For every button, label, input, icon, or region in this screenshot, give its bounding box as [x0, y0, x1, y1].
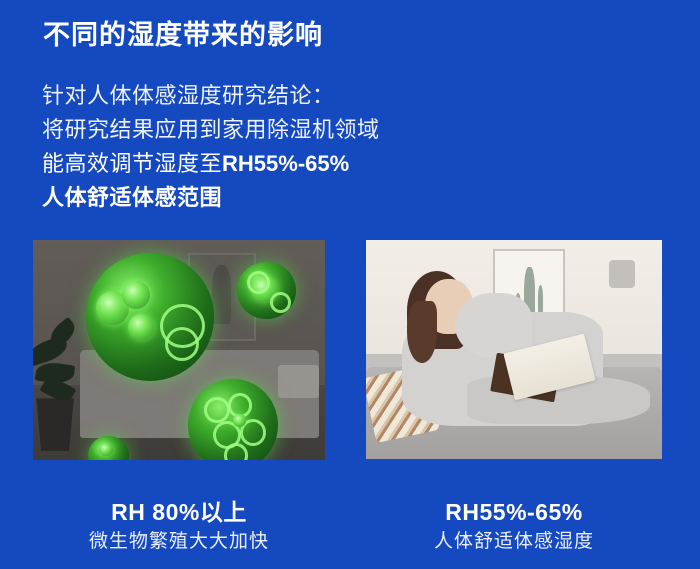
person-hair-strand	[407, 301, 437, 362]
body-line-3-prefix: 能高效调节湿度至	[42, 151, 222, 176]
humidity-comparison-poster: 不同的湿度带来的影响 针对人体体感湿度研究结论： 将研究结果应用到家用除湿机领域…	[0, 0, 700, 569]
body-line-3: 能高效调节湿度至RH55%-65%	[42, 147, 380, 181]
sofa-cushion	[278, 365, 319, 398]
photo-high-humidity-microbes	[33, 240, 325, 460]
microbe-large-icon	[86, 253, 214, 381]
caption-right-sub: 人体舒适体感湿度	[366, 529, 662, 555]
page-title: 不同的湿度带来的影响	[43, 18, 323, 52]
dim-room-scene	[33, 240, 325, 460]
body-line-4: 人体舒适体感范围	[42, 181, 380, 215]
photo-comfortable-humidity-person	[366, 240, 662, 459]
caption-left-main: RH 80%以上	[33, 498, 325, 526]
caption-right-main: RH55%-65%	[366, 498, 662, 526]
body-copy: 针对人体体感湿度研究结论： 将研究结果应用到家用除湿机领域 能高效调节湿度至RH…	[42, 79, 380, 215]
bright-room-scene	[366, 240, 662, 459]
body-line-3-rh-range: RH55%-65%	[222, 151, 349, 176]
body-line-2: 将研究结果应用到家用除湿机领域	[42, 113, 380, 147]
caption-left-sub: 微生物繁殖大大加快	[33, 529, 325, 555]
caption-left: RH 80%以上 微生物繁殖大大加快	[33, 498, 325, 555]
body-line-1: 针对人体体感湿度研究结论：	[42, 79, 380, 113]
wall-thermostat-icon	[609, 260, 636, 288]
microbe-medium-icon	[237, 262, 295, 319]
caption-right: RH55%-65% 人体舒适体感湿度	[366, 498, 662, 555]
